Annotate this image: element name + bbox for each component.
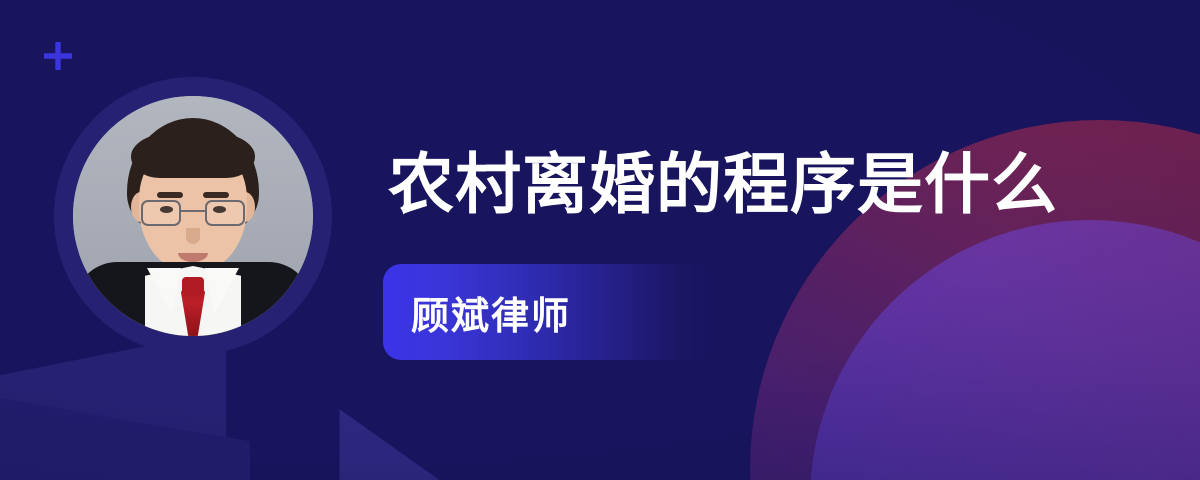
portrait-lens-left bbox=[141, 200, 181, 226]
lawyer-name-badge[interactable]: 顾斌律师 bbox=[383, 264, 715, 360]
portrait-lens-right bbox=[205, 200, 245, 226]
portrait-glasses-bridge bbox=[181, 210, 205, 212]
portrait-nose bbox=[186, 228, 200, 244]
avatar-photo bbox=[73, 96, 313, 336]
portrait-fringe bbox=[131, 132, 255, 178]
portrait-glasses bbox=[141, 200, 245, 226]
plus-icon bbox=[44, 42, 72, 70]
avatar-photo-clip bbox=[73, 96, 313, 336]
portrait-brow-left bbox=[157, 192, 183, 198]
portrait-brow-right bbox=[203, 192, 229, 198]
portrait-necktie-knot bbox=[182, 277, 204, 294]
headline-block: 农村离婚的程序是什么 bbox=[388, 150, 1148, 220]
lawyer-qa-banner: 农村离婚的程序是什么 顾斌律师 bbox=[0, 0, 1200, 480]
lawyer-name-label: 顾斌律师 bbox=[383, 285, 571, 340]
page-title: 农村离婚的程序是什么 bbox=[388, 150, 1148, 220]
avatar bbox=[54, 77, 332, 355]
